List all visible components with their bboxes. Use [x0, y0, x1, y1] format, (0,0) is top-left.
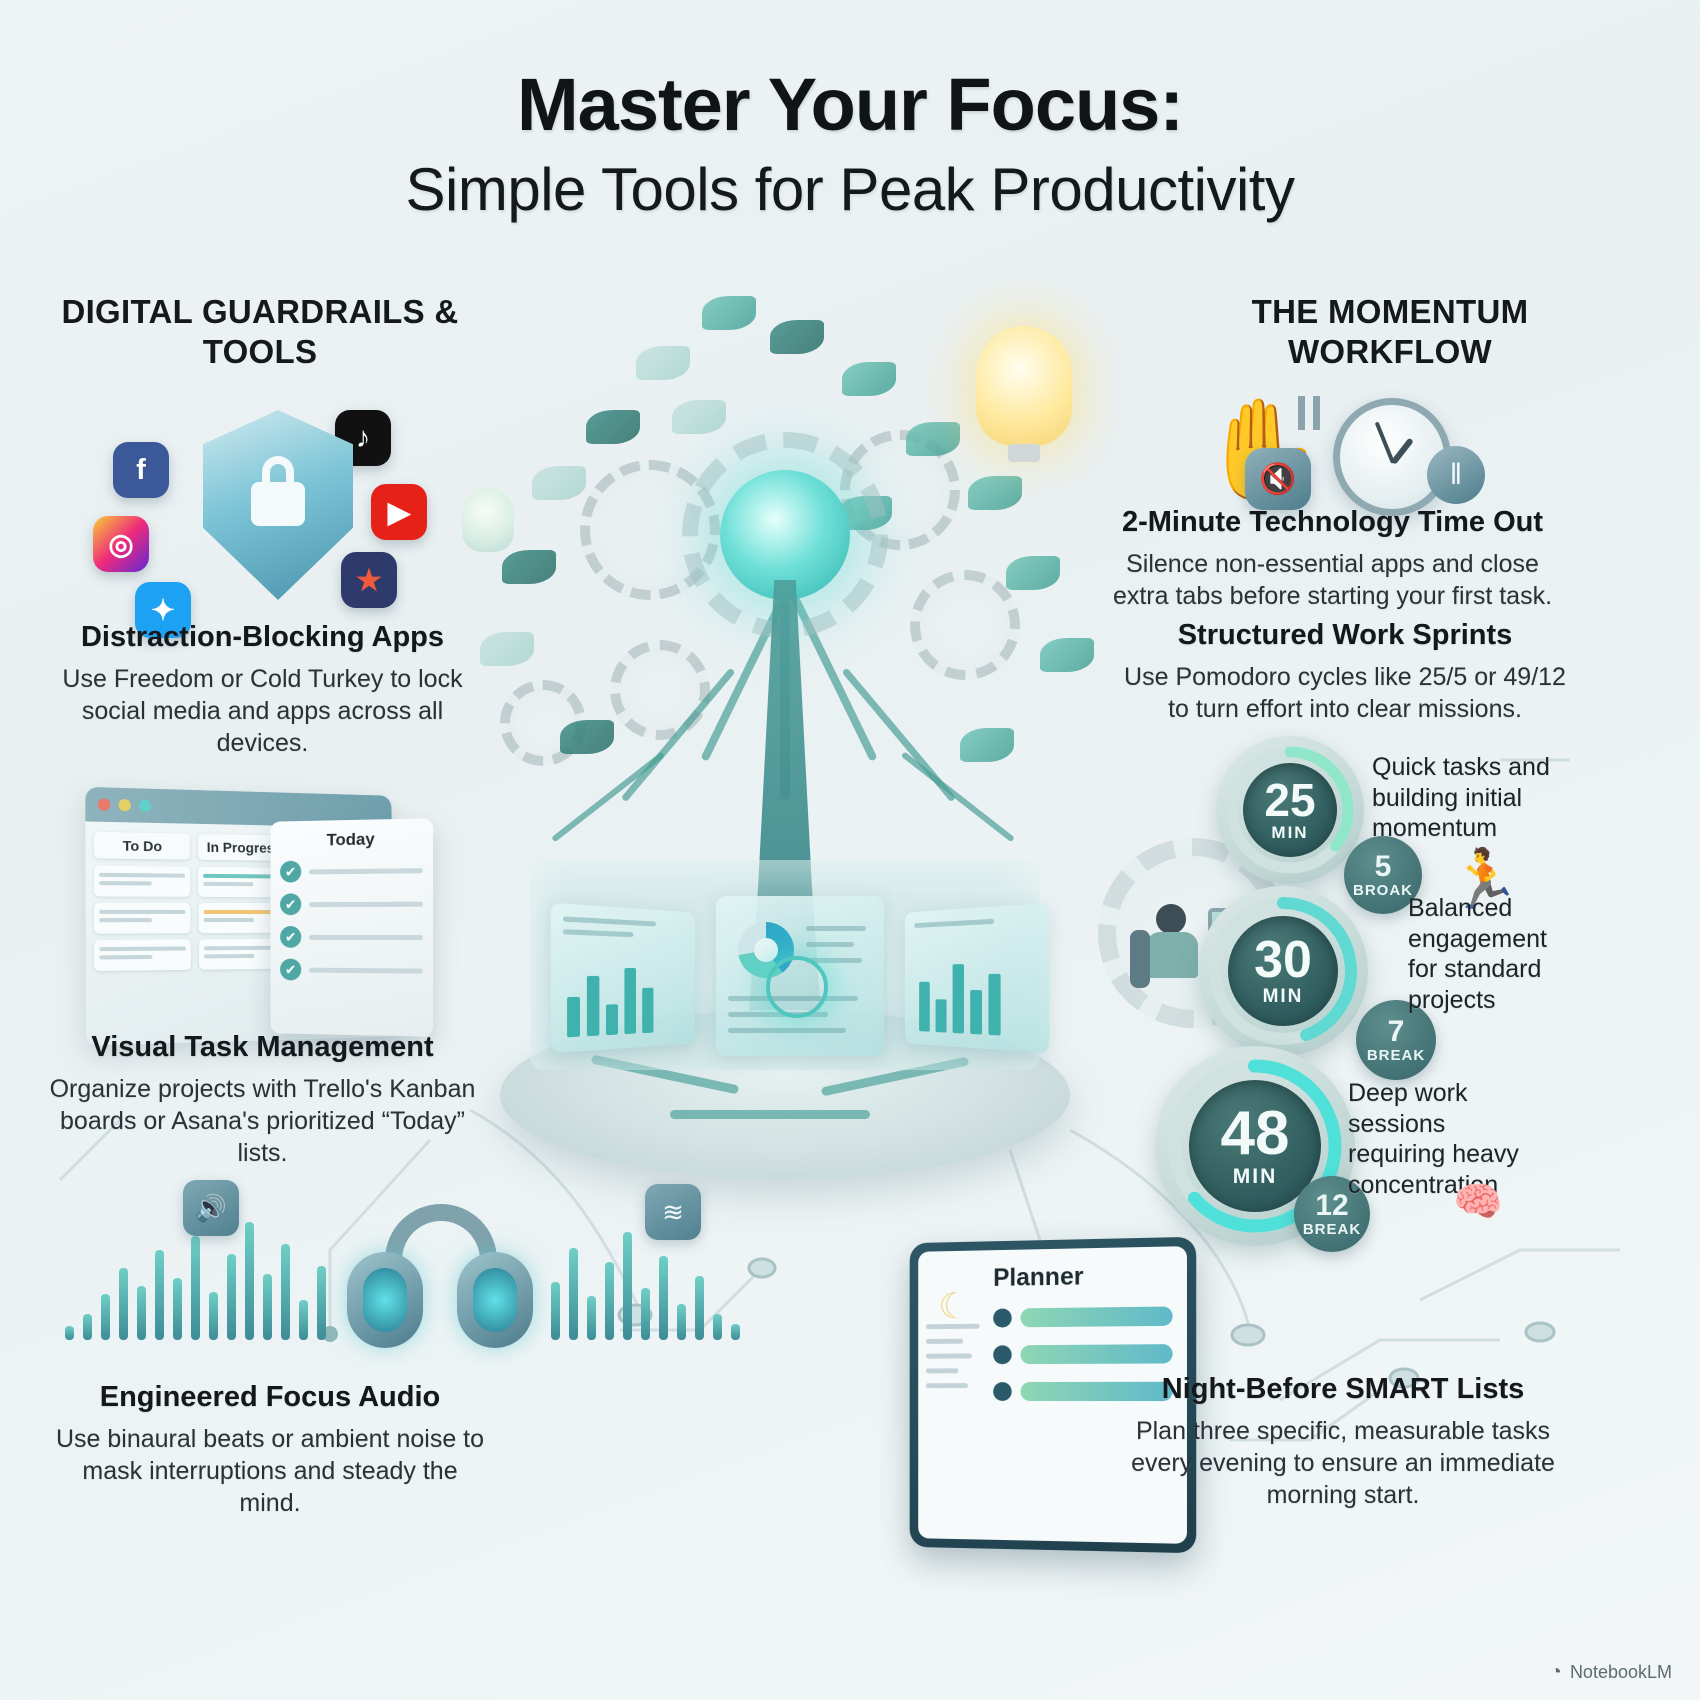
card-visual-task-management: Visual Task Management Organize projects…	[40, 1030, 485, 1169]
kanban-column-title: To Do	[94, 832, 190, 860]
maximize-icon	[139, 799, 151, 811]
today-list-item: ✔	[280, 859, 423, 883]
lock-icon	[251, 482, 305, 526]
break-label: BREAK	[1303, 1221, 1361, 1238]
timer-unit: MIN	[1233, 1165, 1278, 1189]
dashboard-screen-left	[551, 903, 696, 1054]
today-list-card: Today ✔ ✔ ✔ ✔	[271, 818, 434, 1036]
kanban-card	[94, 866, 191, 897]
tree-branch	[901, 751, 1015, 842]
holographic-dashboard-deck	[530, 860, 1040, 1070]
timer-description-48: Deep work sessions requiring heavy conce…	[1348, 1078, 1548, 1200]
headphone-cup	[457, 1252, 533, 1348]
task-bullet	[993, 1382, 1012, 1401]
card-title: Engineered Focus Audio	[50, 1380, 490, 1415]
page-title: Master Your Focus:	[0, 62, 1700, 147]
gear-icon	[910, 570, 1020, 680]
today-list-item: ✔	[280, 893, 423, 916]
break-value: 7	[1388, 1017, 1405, 1047]
facebook-icon: f	[113, 442, 169, 498]
today-list-item: ✔	[280, 926, 423, 948]
today-list-item: ✔	[280, 959, 423, 982]
power-core-icon	[766, 956, 828, 1018]
card-body: Use binaural beats or ambient noise to m…	[50, 1423, 490, 1519]
tree-leaf	[672, 400, 726, 434]
break-label: BROAK	[1353, 882, 1413, 899]
card-title: Distraction-Blocking Apps	[40, 620, 485, 655]
card-body: Organize projects with Trello's Kanban b…	[40, 1073, 485, 1169]
check-icon: ✔	[280, 861, 301, 883]
card-work-sprints: Structured Work Sprints Use Pomodoro cyc…	[1120, 618, 1570, 725]
pause-icon	[1298, 396, 1320, 430]
shield-icon	[203, 410, 353, 600]
task-placeholder-line	[309, 967, 423, 973]
focus-audio-illustration: 🔊 ≋	[55, 1190, 795, 1380]
task-placeholder-line	[309, 934, 423, 939]
close-icon	[98, 798, 110, 810]
timer-value: 48	[1221, 1103, 1290, 1165]
timer-face: 25 MIN	[1243, 763, 1337, 857]
break-value: 12	[1315, 1191, 1348, 1221]
timer-unit: MIN	[1271, 823, 1308, 843]
card-body: Plan three specific, measurable tasks ev…	[1118, 1415, 1568, 1511]
person-head	[1156, 904, 1186, 934]
timer-value: 30	[1254, 934, 1312, 986]
clock-minute-hand	[1375, 421, 1395, 463]
task-placeholder-line	[309, 868, 423, 874]
tree-leaf	[906, 422, 960, 456]
tree-leaf	[532, 466, 586, 500]
check-icon: ✔	[280, 893, 301, 915]
headphones-icon	[345, 1204, 535, 1354]
timer-value: 25	[1264, 777, 1315, 823]
card-title: 2-Minute Technology Time Out	[1105, 505, 1560, 540]
card-body: Silence non-essential apps and close ext…	[1105, 548, 1560, 612]
page-subtitle: Simple Tools for Peak Productivity	[0, 155, 1700, 224]
minimize-icon	[119, 799, 131, 811]
card-title: Structured Work Sprints	[1120, 618, 1570, 653]
sound-wave-icon: ≋	[645, 1184, 701, 1240]
tree-branch	[551, 751, 665, 842]
card-body: Use Pomodoro cycles like 25/5 or 49/12 t…	[1120, 661, 1570, 725]
chair-icon	[1130, 930, 1150, 988]
footer-brand: ◔ NotebookLM	[1550, 1661, 1672, 1684]
right-column-header: THE MOMENTUM WORKFLOW	[1175, 292, 1605, 373]
kanban-card	[94, 939, 191, 971]
timer-description-30: Balanced engagement for standard project…	[1408, 893, 1568, 1015]
pomodoro-timer-30: 30 MIN	[1198, 886, 1368, 1056]
footer-brand-label: NotebookLM	[1570, 1662, 1672, 1683]
distraction-apps-illustration: f ◎ ✦ ♪ ▶ ★	[85, 400, 485, 620]
kanban-column: To Do	[94, 832, 192, 977]
tree-leaf	[502, 550, 556, 584]
tree-leaf	[702, 296, 756, 330]
card-title: Night-Before SMART Lists	[1118, 1372, 1568, 1407]
tree-leaf	[770, 320, 824, 354]
kanban-card	[94, 903, 191, 934]
brain-icon: 🧠	[1453, 1178, 1503, 1225]
tree-leaf	[1006, 556, 1060, 590]
card-body: Use Freedom or Cold Turkey to lock socia…	[40, 663, 485, 759]
speaker-icon: 🔊	[183, 1180, 239, 1236]
planner-task-row	[993, 1306, 1172, 1327]
card-smart-lists: Night-Before SMART Lists Plan three spec…	[1118, 1372, 1568, 1511]
infographic-canvas: Master Your Focus: Simple Tools for Peak…	[0, 0, 1700, 1700]
dashboard-screen-right	[905, 903, 1050, 1054]
mute-icon: 🔇	[1245, 448, 1311, 510]
tree-leaf	[560, 720, 614, 754]
timer-unit: MIN	[1263, 986, 1304, 1008]
timer-description-25: Quick tasks and building initial momentu…	[1372, 752, 1557, 844]
tree-leaf	[968, 476, 1022, 510]
check-icon: ✔	[280, 959, 301, 981]
card-focus-audio: Engineered Focus Audio Use binaural beat…	[50, 1380, 490, 1519]
person-body	[1146, 932, 1198, 978]
card-title: Visual Task Management	[40, 1030, 485, 1065]
tree-leaf	[1040, 638, 1094, 672]
headphone-cup	[347, 1252, 423, 1348]
task-bar	[1020, 1344, 1172, 1364]
moon-icon: ☾	[938, 1285, 969, 1327]
notebooklm-logo-icon: ◔	[1550, 1661, 1562, 1684]
left-column-header: DIGITAL GUARDRAILS & TOOLS	[30, 292, 490, 373]
instagram-icon: ◎	[93, 516, 149, 572]
youtube-icon: ▶	[371, 484, 427, 540]
planner-task-row	[993, 1344, 1172, 1364]
tree-leaf	[480, 632, 534, 666]
tree-leaf	[636, 346, 690, 380]
task-bar	[1020, 1306, 1172, 1327]
break-value: 5	[1375, 852, 1392, 882]
planner-sidebar: ☾	[918, 1250, 987, 1539]
productivity-tree-illustration	[440, 250, 1120, 1200]
lightbulb-icon	[976, 326, 1072, 446]
planner-title: Planner	[993, 1261, 1172, 1293]
today-list-title: Today	[280, 829, 423, 851]
task-bullet	[993, 1345, 1012, 1364]
gear-icon	[610, 640, 710, 740]
page-title-block: Master Your Focus: Simple Tools for Peak…	[0, 62, 1700, 224]
timer-face: 30 MIN	[1228, 916, 1338, 1026]
check-icon: ✔	[280, 926, 301, 948]
tree-leaf	[842, 362, 896, 396]
card-technology-timeout: 2-Minute Technology Time Out Silence non…	[1105, 505, 1560, 612]
tree-root	[670, 1110, 870, 1119]
task-placeholder-line	[309, 901, 423, 907]
card-distraction-blocking: Distraction-Blocking Apps Use Freedom or…	[40, 620, 485, 759]
pause-icon: ‖	[1427, 446, 1485, 504]
tree-leaf	[960, 728, 1014, 762]
break-label: BREAK	[1367, 1047, 1425, 1064]
pomodoro-timer-25: 25 MIN	[1216, 736, 1364, 884]
task-bullet	[993, 1308, 1012, 1327]
tree-leaf	[586, 410, 640, 444]
star-app-icon: ★	[341, 552, 397, 608]
